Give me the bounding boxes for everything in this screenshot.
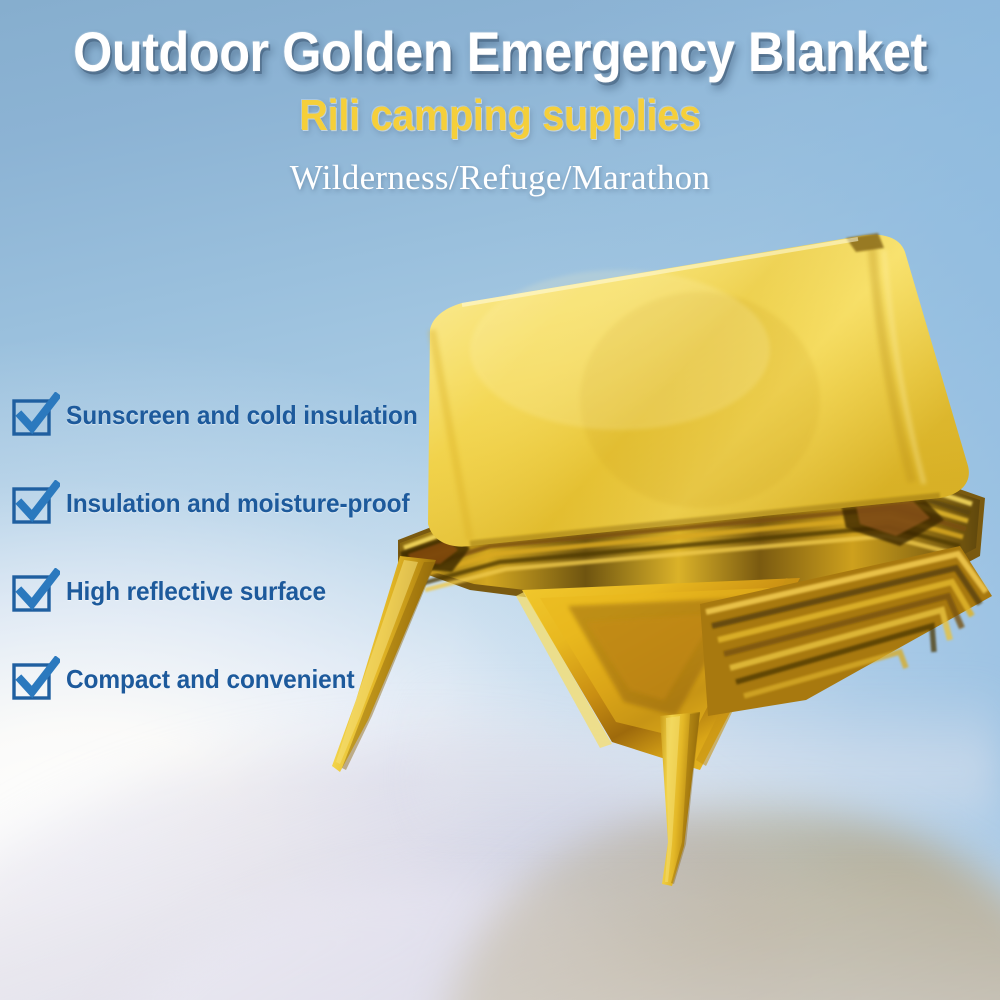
checkbox-checked-icon: [10, 392, 60, 438]
page-tagline: Wilderness/Refuge/Marathon: [0, 138, 1000, 195]
feature-list: Sunscreen and cold insulation Insulation…: [10, 392, 440, 702]
feature-label: Insulation and moisture-proof: [66, 488, 410, 519]
feature-item-4: Compact and convenient: [10, 656, 440, 702]
horizon-haze: [420, 680, 1000, 840]
page-title: Outdoor Golden Emergency Blanket: [50, 0, 950, 80]
feature-label: Sunscreen and cold insulation: [66, 400, 418, 431]
feature-item-3: High reflective surface: [10, 568, 440, 614]
feature-item-2: Insulation and moisture-proof: [10, 480, 440, 526]
feature-label: Compact and convenient: [66, 664, 355, 695]
feature-label: High reflective surface: [66, 576, 326, 607]
checkbox-checked-icon: [10, 568, 60, 614]
checkbox-checked-icon: [10, 656, 60, 702]
checkbox-checked-icon: [10, 480, 60, 526]
headings-block: Outdoor Golden Emergency Blanket Rili ca…: [0, 0, 1000, 195]
page-subtitle: Rili camping supplies: [50, 80, 950, 138]
feature-item-1: Sunscreen and cold insulation: [10, 392, 440, 438]
product-marketing-image: Outdoor Golden Emergency Blanket Rili ca…: [0, 0, 1000, 1000]
